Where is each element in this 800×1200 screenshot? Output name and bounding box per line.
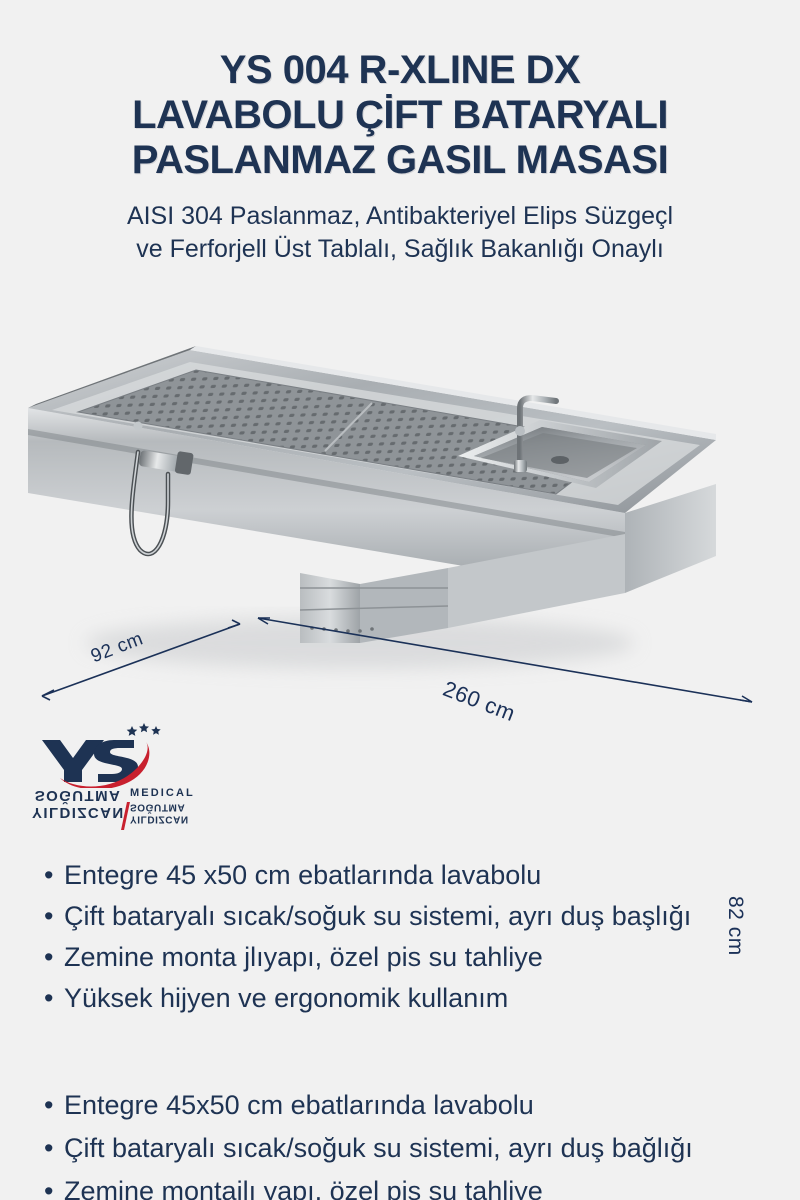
title-line-2: LAVABOLU ÇİFT BATARYALI	[0, 93, 800, 138]
list-item: • Çift bataryalı sıcak/soğuk su sistemi,…	[44, 899, 784, 934]
dim-arrow-260-end	[740, 696, 752, 702]
bullet-icon: •	[44, 1131, 64, 1166]
logo-medical-sub-1: YILDIZCAN	[130, 812, 202, 824]
logo-ys-monogram	[42, 740, 138, 782]
title-line-3: PASLANMAZ GASIL MASASI	[0, 138, 800, 183]
bullet-icon: •	[44, 858, 64, 893]
feature-text: Zemine montajlı yapı, özel pis su tahliy…	[64, 1174, 800, 1200]
logo-medical-sub-group: YILDIZCAN SOĞUTMA	[130, 800, 202, 824]
list-item: • Çift bataryalı sıcak/soğuk su sistemi,…	[44, 1131, 800, 1166]
subtitle-line-1: AISI 304 Paslanmaz, Antibakteriyel Elips…	[0, 200, 800, 233]
feature-text: Zemine monta jlıyapı, özel pis su tahliy…	[64, 940, 784, 975]
list-item: • Zemine montajlı yapı, özel pis su tahl…	[44, 1174, 800, 1200]
bullet-icon: •	[44, 940, 64, 975]
list-item: • Entegre 45 x50 cm ebatlarında lavabolu	[44, 858, 784, 893]
sink-faucet-base	[514, 460, 527, 472]
page-title: YS 004 R-XLINE DX LAVABOLU ÇİFT BATARYAL…	[0, 0, 800, 182]
feature-text: Entegre 45 x50 cm ebatlarında lavabolu	[64, 858, 784, 893]
bullet-icon: •	[44, 1174, 64, 1200]
wall-faucet-top-cap	[134, 422, 143, 431]
subtitle-line-2: ve Ferforjell Üst Tablalı, Sağlık Bakanl…	[0, 233, 800, 266]
logo-brand-line-1: YILDIZCAN	[32, 803, 124, 820]
feature-list-secondary: • Entegre 45x50 cm ebatlarında lavabolu …	[44, 1088, 800, 1200]
logo-brand-line-2: SOĞUTMA	[32, 786, 124, 803]
title-line-1: YS 004 R-XLINE DX	[0, 48, 800, 93]
feature-list-primary: • Entegre 45 x50 cm ebatlarında lavabolu…	[44, 858, 784, 1022]
logo-text-group: YILDIZCAN SOĞUTMA MEDICAL YILDIZCAN SOĞU…	[32, 786, 198, 832]
logo-stars	[127, 723, 161, 736]
feature-text: Çift bataryalı sıcak/soğuk su sistemi, a…	[64, 1131, 800, 1166]
logo-medical-sub-2: SOĞUTMA	[130, 800, 202, 812]
company-logo: YILDIZCAN SOĞUTMA MEDICAL YILDIZCAN SOĞU…	[28, 722, 198, 834]
logo-brand-text: YILDIZCAN SOĞUTMA	[32, 786, 124, 821]
feature-text: Çift bataryalı sıcak/soğuk su sistemi, a…	[64, 899, 784, 934]
logo-medical-label: MEDICAL	[130, 786, 202, 800]
dim-arrow-92-start	[42, 690, 54, 700]
list-item: • Entegre 45x50 cm ebatlarında lavabolu	[44, 1088, 800, 1123]
logo-medical-block: MEDICAL YILDIZCAN SOĞUTMA	[130, 786, 202, 825]
feature-text: Entegre 45x50 cm ebatlarında lavabolu	[64, 1088, 800, 1123]
list-item: • Zemine monta jlıyapı, özel pis su tahl…	[44, 940, 784, 975]
page-subtitle: AISI 304 Paslanmaz, Antibakteriyel Elips…	[0, 200, 800, 266]
sink-drain	[551, 456, 569, 464]
sink-faucet-handle	[515, 426, 525, 436]
bullet-icon: •	[44, 981, 64, 1016]
logo-mark-icon	[28, 722, 168, 788]
bullet-icon: •	[44, 1088, 64, 1123]
product-image-area: 92 cm 260 cm 82 cm	[0, 288, 800, 708]
wall-faucet-lever	[175, 451, 194, 475]
bullet-icon: •	[44, 899, 64, 934]
feature-text: Yüksek hijyen ve ergonomik kullanım	[64, 981, 784, 1016]
product-page: YS 004 R-XLINE DX LAVABOLU ÇİFT BATARYAL…	[0, 0, 800, 1200]
list-item: • Yüksek hijyen ve ergonomik kullanım	[44, 981, 784, 1016]
